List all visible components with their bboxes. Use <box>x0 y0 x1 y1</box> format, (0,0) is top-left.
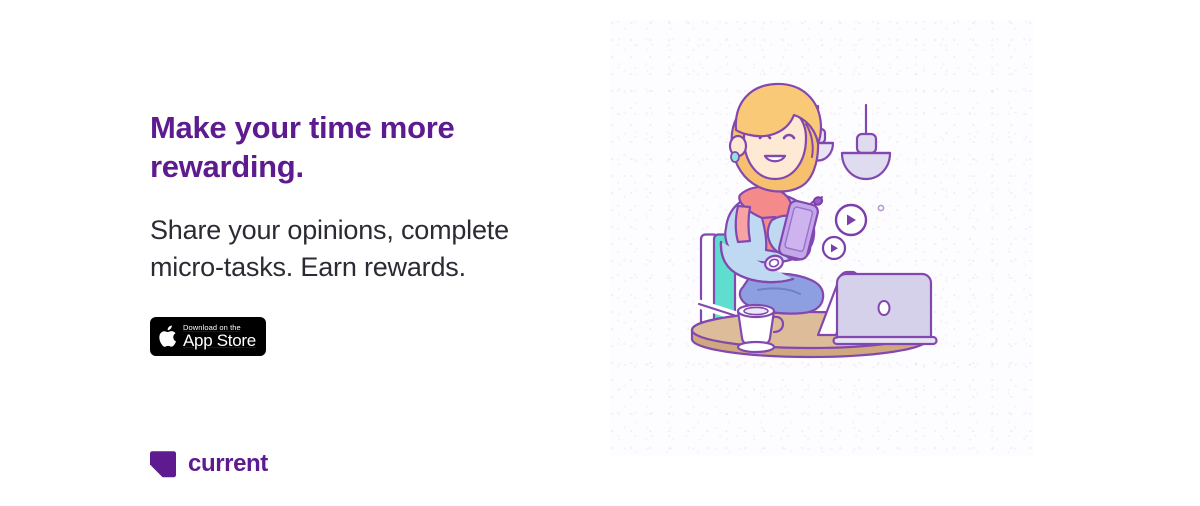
landing-page-hero: Make your time more rewarding. Share you… <box>0 0 1200 506</box>
app-store-download-button[interactable]: Download on the App Store <box>150 317 266 356</box>
woman-on-phone-at-desk-illustration <box>610 20 1034 456</box>
hero-copy-block: Make your time more rewarding. Share you… <box>150 108 580 286</box>
app-store-badge-text: Download on the App Store <box>183 323 256 350</box>
app-store-badge-large-label: App Store <box>183 332 256 350</box>
apple-logo-icon <box>158 325 177 348</box>
brand-name-label: current <box>188 450 268 478</box>
current-speech-bubble-icon <box>148 449 178 479</box>
brand-logo[interactable]: current <box>148 449 268 479</box>
hero-subtitle: Share your opinions, complete micro-task… <box>150 186 580 286</box>
app-store-badge[interactable]: Download on the App Store <box>150 317 266 356</box>
page-title: Make your time more rewarding. <box>150 108 580 186</box>
